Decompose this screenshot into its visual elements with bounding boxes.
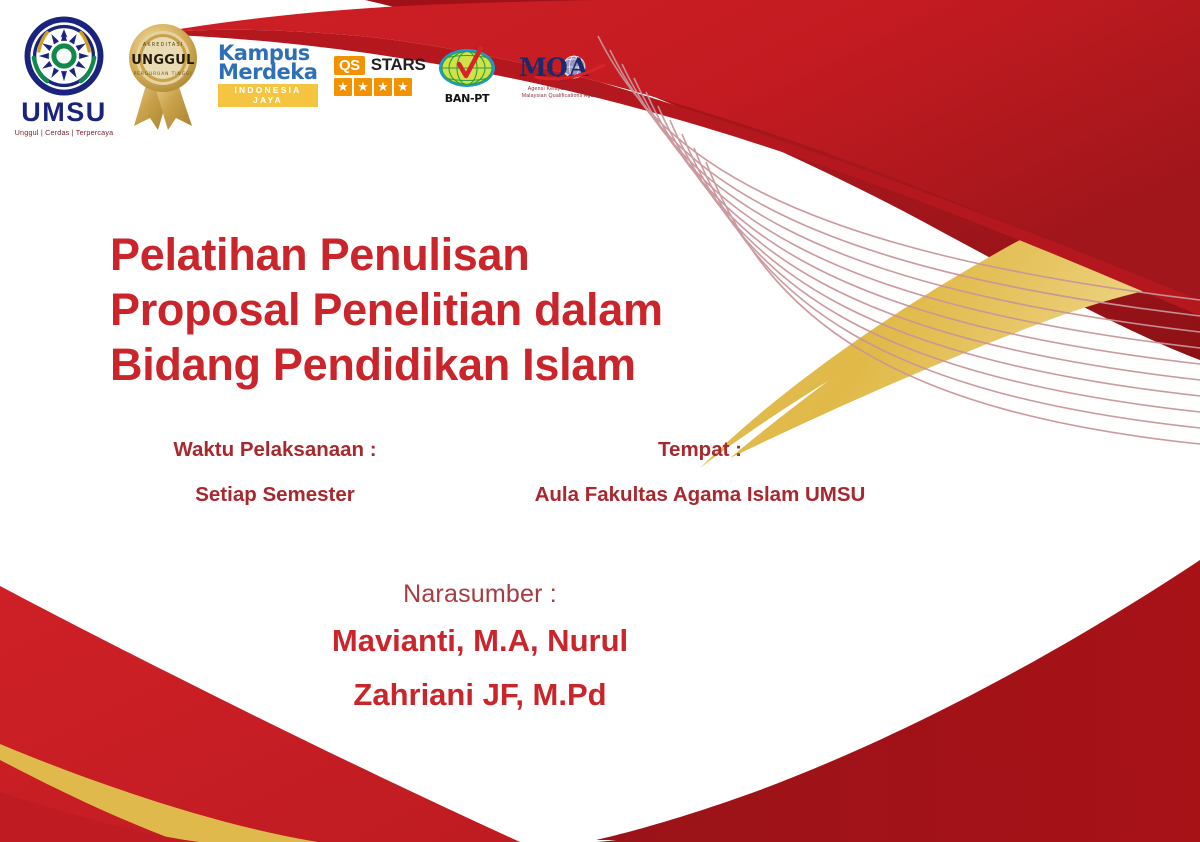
mqa-subtitle-line2: Malaysian Qualifications Agency — [522, 93, 603, 100]
ban-pt-wordmark: BAN-PT — [445, 92, 489, 105]
ban-pt-logo: BAN-PT — [436, 46, 498, 105]
star-icon: ★ — [354, 78, 372, 96]
presentation-slide: UMSU Unggul | Cerdas | Terpercaya — [0, 0, 1200, 842]
umsu-wordmark: UMSU — [21, 99, 107, 126]
umsu-tagline: Unggul | Cerdas | Terpercaya — [15, 128, 114, 137]
svg-text:PERGURUAN TINGGI: PERGURUAN TINGGI — [134, 71, 193, 77]
star-icon: ★ — [374, 78, 392, 96]
kampus-merdeka-banner: INDONESIA JAYA — [218, 84, 318, 107]
waktu-label: Waktu Pelaksanaan : — [173, 434, 376, 467]
mqa-wordmark-icon: M Q A — [516, 51, 608, 85]
qs-stars-header: QS STARS — [334, 55, 426, 75]
mqa-logo: M Q A Agensi Kelayakan Malaysia Malaysia… — [514, 51, 610, 100]
kampus-merdeka-line2: Merdeka — [218, 63, 317, 82]
svg-text:UNGGUL: UNGGUL — [131, 53, 194, 68]
speaker-name-line-1: Mavianti, M.A, Nurul — [0, 617, 960, 665]
title-line-2: Proposal Penelitian dalam — [110, 283, 910, 338]
qs-badge: QS — [334, 56, 365, 75]
mqa-subtitle-line1: Agensi Kelayakan Malaysia — [522, 86, 603, 93]
kampus-merdeka-logo: Kampus Merdeka INDONESIA JAYA — [218, 44, 318, 108]
slide-title: Pelatihan Penulisan Proposal Penelitian … — [110, 228, 910, 393]
mqa-subtitle: Agensi Kelayakan Malaysia Malaysian Qual… — [522, 86, 603, 100]
umsu-crest-icon — [22, 14, 106, 98]
title-line-1: Pelatihan Penulisan — [110, 228, 910, 283]
star-icon: ★ — [334, 78, 352, 96]
qs-stars-logo: QS STARS ★ ★ ★ ★ — [334, 55, 420, 96]
umsu-logo: UMSU Unggul | Cerdas | Terpercaya — [16, 14, 112, 137]
deco-bottom-left-red-lower — [0, 792, 200, 842]
ban-pt-globe-icon — [437, 46, 497, 94]
waktu-value: Setiap Semester — [195, 479, 355, 512]
event-time-block: Waktu Pelaksanaan : Setiap Semester — [110, 434, 440, 512]
svg-text:AKREDITASI: AKREDITASI — [143, 42, 183, 48]
tempat-label: Tempat : — [658, 434, 742, 467]
qs-stars-word: STARS — [371, 55, 426, 75]
speaker-name-line-2: Zahriani JF, M.Pd — [0, 671, 960, 719]
ribbon-badge-icon: AKREDITASI UNGGUL PERGURUAN TINGGI — [128, 20, 198, 132]
speaker-section: Narasumber : Mavianti, M.A, Nurul Zahria… — [0, 578, 960, 719]
deco-bottom-left-gold — [0, 744, 318, 842]
title-line-3: Bidang Pendidikan Islam — [110, 338, 910, 393]
tempat-value: Aula Fakultas Agama Islam UMSU — [535, 479, 866, 512]
event-details: Waktu Pelaksanaan : Setiap Semester Temp… — [110, 434, 990, 512]
accreditation-logo-strip: UMSU Unggul | Cerdas | Terpercaya — [16, 14, 610, 137]
narasumber-label: Narasumber : — [0, 578, 960, 611]
akreditasi-unggul-logo: AKREDITASI UNGGUL PERGURUAN TINGGI — [128, 20, 202, 132]
event-venue-block: Tempat : Aula Fakultas Agama Islam UMSU — [440, 434, 960, 512]
qs-star-rating: ★ ★ ★ ★ — [334, 78, 412, 96]
star-icon: ★ — [394, 78, 412, 96]
